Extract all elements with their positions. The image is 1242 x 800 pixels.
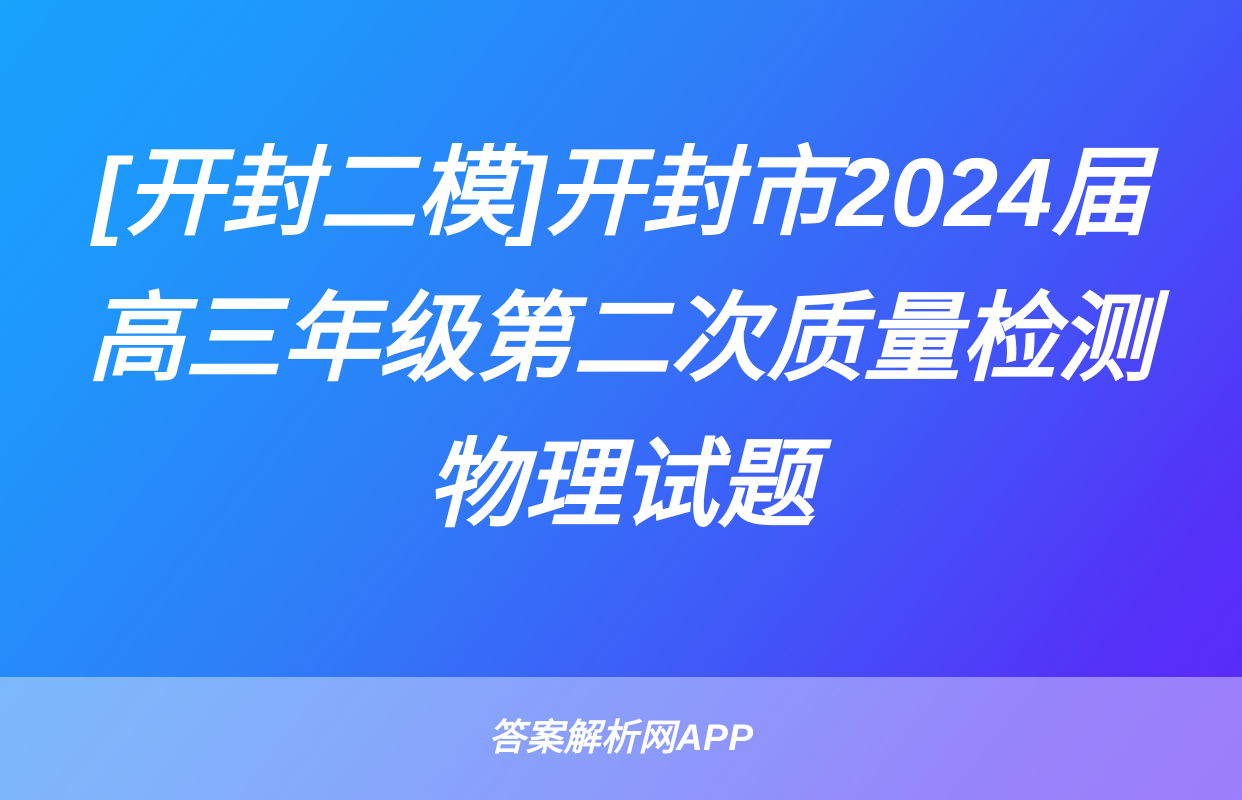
brand-watermark: 答案解析网APP [488,719,753,758]
title-area: [开封二模]开封市2024届高三年级第二次质量检测物理试题 [0,0,1242,677]
page-title: [开封二模]开封市2024届高三年级第二次质量检测物理试题 [58,120,1184,558]
watermark-band: 答案解析网APP [0,677,1242,800]
share-card: [开封二模]开封市2024届高三年级第二次质量检测物理试题 答案解析网APP [0,0,1242,800]
